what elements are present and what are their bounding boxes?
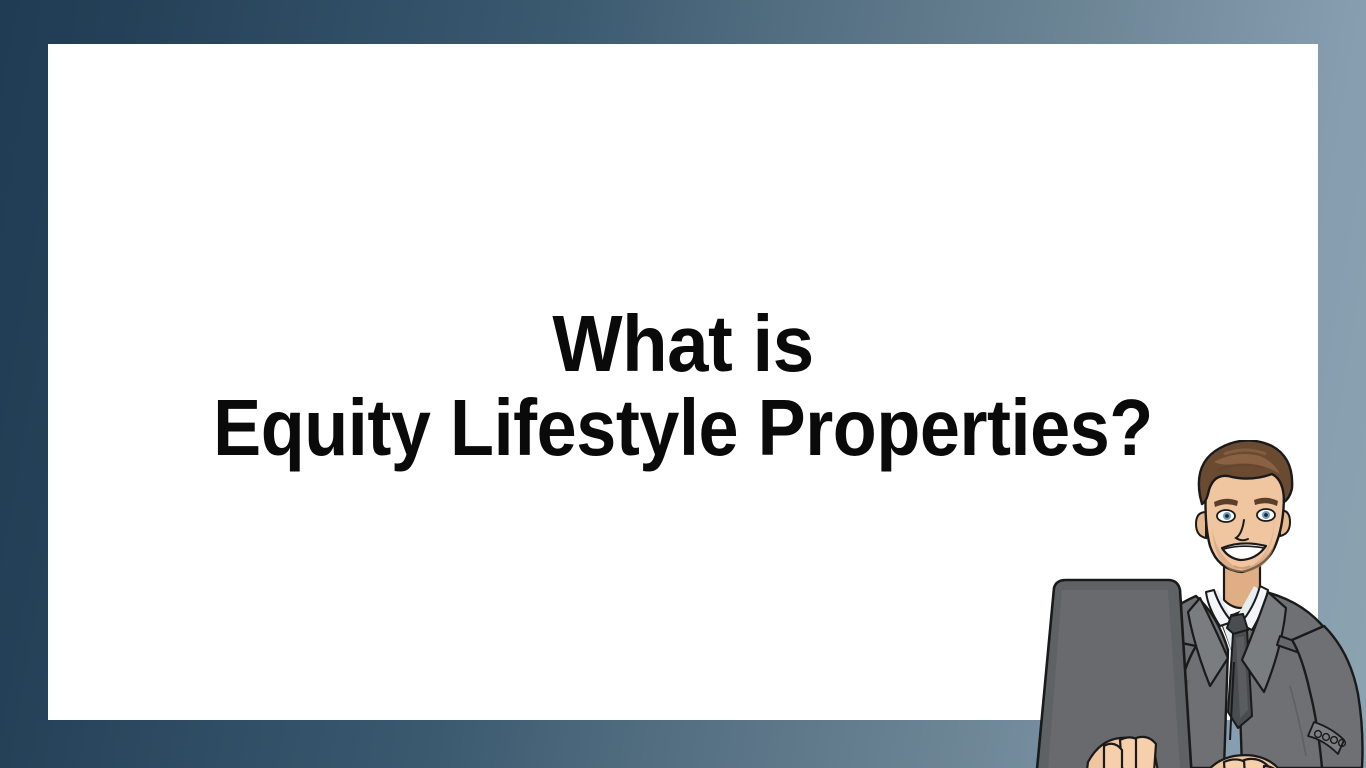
title-line-1: What is <box>92 302 1273 386</box>
slide-title-block: What is Equity Lifestyle Properties? <box>48 302 1318 470</box>
white-content-card: What is Equity Lifestyle Properties? <box>48 44 1318 720</box>
title-line-2: Equity Lifestyle Properties? <box>112 386 1255 470</box>
presentation-slide: What is Equity Lifestyle Properties? <box>0 0 1366 768</box>
